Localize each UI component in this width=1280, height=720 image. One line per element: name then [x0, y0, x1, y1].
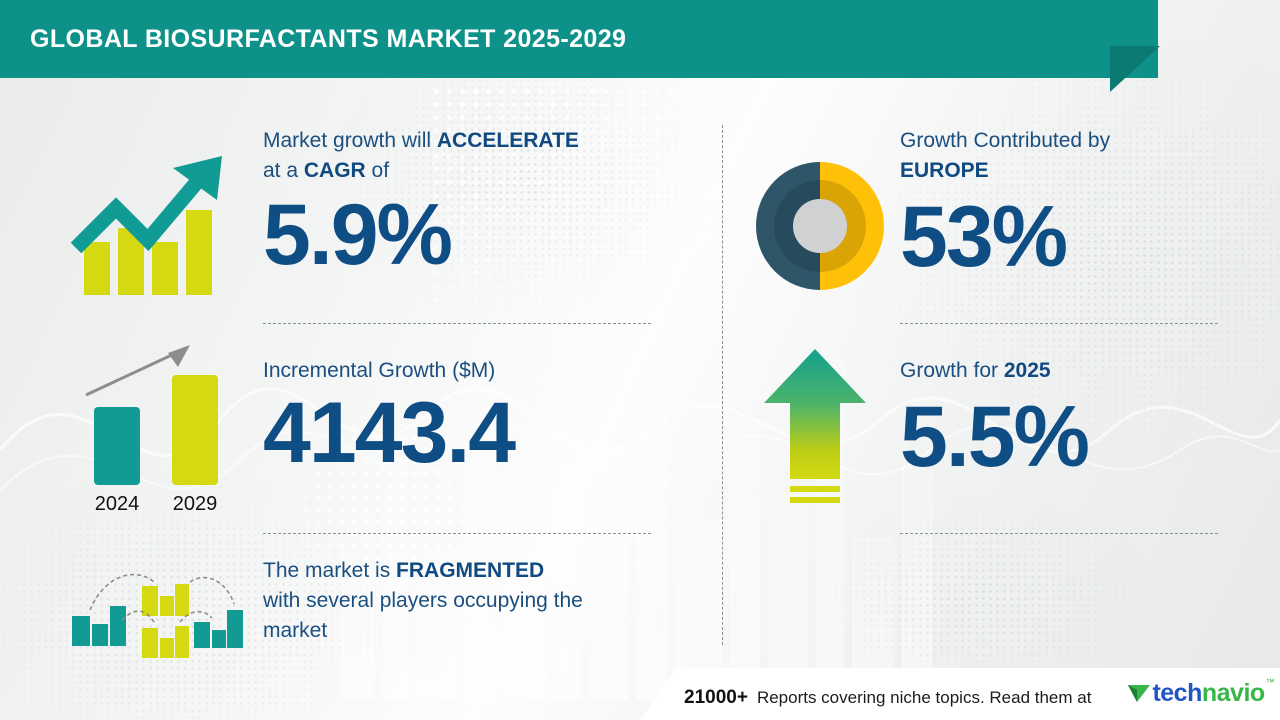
year-growth-block: Growth for 2025 5.5% [900, 356, 1230, 480]
europe-contribution-block: Growth Contributed by EUROPE 53% [900, 126, 1230, 280]
cagr-caption-plain-3: of [366, 159, 389, 182]
divider-right-1 [900, 323, 1218, 324]
trend-up-bar-chart-icon [70, 150, 230, 295]
footer-bar: 21000+ Reports covering niche topics. Re… [640, 668, 1280, 720]
fragmentation-caption: The market is FRAGMENTED with several pl… [263, 556, 683, 646]
cagr-block: Market growth will ACCELERATE at a CAGR … [263, 126, 663, 278]
incremental-growth-caption: Incremental Growth ($M) [263, 356, 663, 386]
bar-label-2029: 2029 [173, 493, 218, 515]
cagr-caption-plain-1: Market growth will [263, 129, 437, 152]
technavio-mark-icon [1126, 681, 1152, 705]
logo-tech-text: tech [1152, 679, 1201, 707]
page-title: GLOBAL BIOSURFACTANTS MARKET 2025-2029 [0, 25, 626, 54]
header-bar: GLOBAL BIOSURFACTANTS MARKET 2025-2029 [0, 0, 1158, 78]
divider-left-2 [263, 533, 651, 534]
up-arrow-icon [760, 345, 870, 515]
europe-caption: Growth Contributed by EUROPE [900, 126, 1230, 186]
connected-buildings-icon [62, 558, 252, 663]
bar-label-2024: 2024 [95, 493, 140, 515]
column-divider [722, 125, 723, 645]
divider-left-1 [263, 323, 651, 324]
incremental-growth-value: 4143.4 [263, 390, 663, 476]
logo-navio-text: navio [1202, 679, 1265, 707]
header-fold-corner-icon [1110, 46, 1160, 92]
technavio-logo[interactable]: technavio ™ [1126, 681, 1273, 706]
technavio-wordmark: technavio [1152, 681, 1264, 706]
year-growth-plain: Growth for [900, 359, 1004, 382]
fragmentation-bold: FRAGMENTED [396, 559, 544, 582]
year-growth-caption: Growth for 2025 [900, 356, 1230, 386]
europe-value: 53% [900, 194, 1230, 280]
fragmentation-line-2: with several players occupying the [263, 589, 583, 612]
footer-text: Reports covering niche topics. Read them… [757, 688, 1092, 708]
cagr-caption-bold-cagr: CAGR [304, 159, 366, 182]
cagr-caption-bold-accelerate: ACCELERATE [437, 129, 579, 152]
fragmentation-line-3: market [263, 619, 327, 642]
report-count: 21000+ [684, 687, 748, 709]
fragmentation-block: The market is FRAGMENTED with several pl… [263, 556, 683, 646]
fragmentation-plain-1: The market is [263, 559, 396, 582]
footer-content: 21000+ Reports covering niche topics. Re… [640, 679, 1274, 710]
year-growth-value: 5.5% [900, 394, 1230, 480]
cagr-value: 5.9% [263, 192, 663, 278]
cagr-caption: Market growth will ACCELERATE at a CAGR … [263, 126, 663, 186]
europe-caption-line-1: Growth Contributed by [900, 129, 1110, 152]
divider-right-2 [900, 533, 1218, 534]
two-bar-comparison-icon: 2024 2029 [72, 335, 232, 520]
year-growth-bold-year: 2025 [1004, 359, 1051, 382]
cagr-caption-plain-2: at a [263, 159, 304, 182]
incremental-growth-block: Incremental Growth ($M) 4143.4 [263, 356, 663, 476]
trademark-symbol: ™ [1266, 677, 1275, 687]
europe-caption-bold: EUROPE [900, 159, 989, 182]
donut-chart-icon [752, 158, 888, 294]
